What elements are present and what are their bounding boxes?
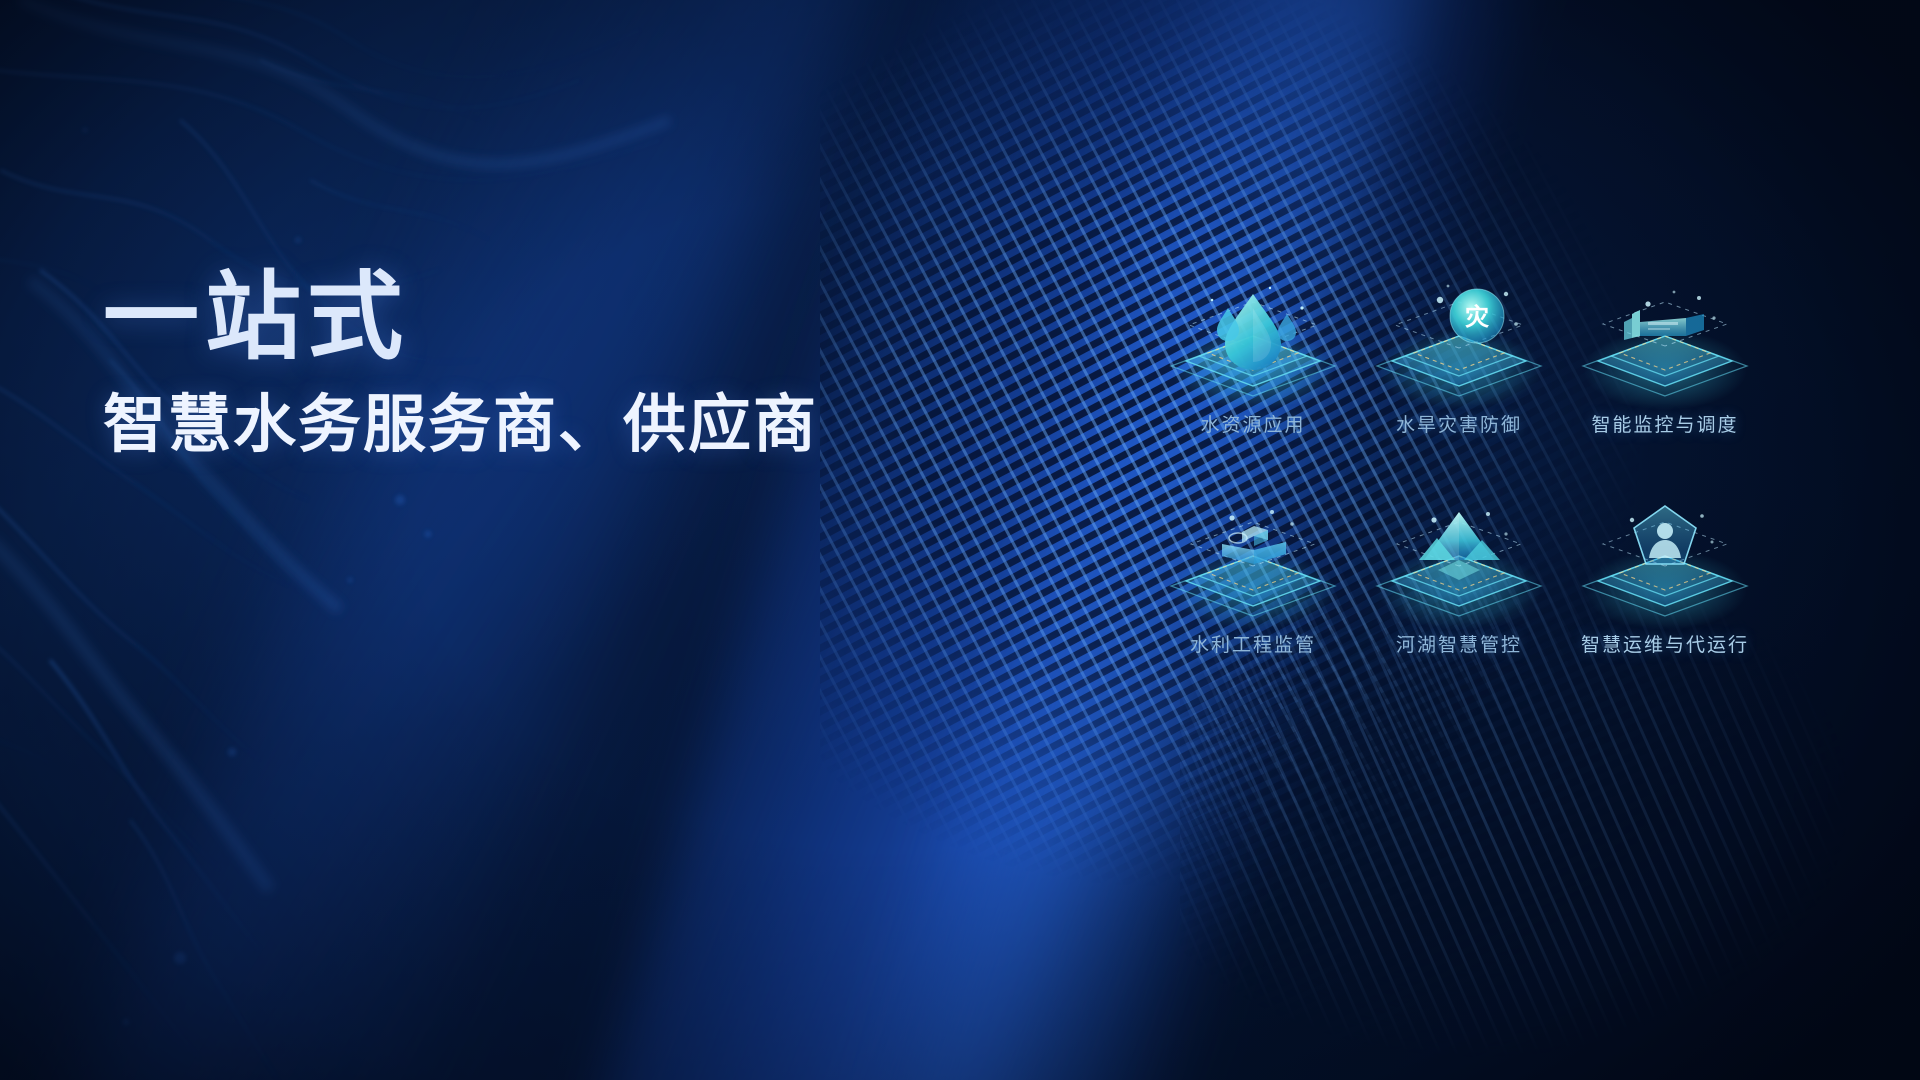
capability-label: 水资源应用 (1200, 410, 1305, 437)
light-ribbon-left (31, 0, 890, 1080)
capability-grid: 水资源应用 (1150, 278, 1770, 668)
capability-item-water-resource[interactable]: 水资源应用 (1150, 278, 1356, 448)
capability-item-smart-ops[interactable]: 智慧运维与代运行 (1562, 498, 1768, 668)
capability-item-hydraulic-works[interactable]: 水利工程监管 (1150, 498, 1356, 668)
water-flow-texture (0, 0, 780, 1080)
water-drop-icon (1150, 278, 1356, 406)
capability-item-flood-drought[interactable]: 灾 水旱灾害防御 (1356, 278, 1562, 448)
slide-canvas: 一站式 智慧水务服务商、供应商 (0, 0, 1920, 1080)
capability-label: 水旱灾害防御 (1396, 410, 1522, 437)
page-subtitle: 智慧水务服务商、供应商 (103, 390, 1003, 461)
hydraulic-works-icon (1150, 498, 1356, 626)
capability-label: 水利工程监管 (1190, 630, 1316, 657)
disaster-sphere-icon: 灾 (1356, 278, 1562, 406)
headline-block: 一站式 智慧水务服务商、供应商 (103, 268, 1003, 460)
capability-label: 河湖智慧管控 (1396, 630, 1522, 657)
capability-label: 智慧运维与代运行 (1581, 630, 1749, 657)
capability-label: 智能监控与调度 (1591, 410, 1738, 437)
disaster-badge-glyph: 灾 (1465, 303, 1489, 331)
page-title: 一站式 (103, 268, 1003, 368)
monitoring-station-icon (1562, 278, 1768, 406)
capability-item-monitoring-dispatch[interactable]: 智能监控与调度 (1562, 278, 1768, 448)
river-lake-mountain-icon (1356, 498, 1562, 626)
capability-item-river-lake[interactable]: 河湖智慧管控 (1356, 498, 1562, 668)
shield-operator-icon (1562, 498, 1768, 626)
